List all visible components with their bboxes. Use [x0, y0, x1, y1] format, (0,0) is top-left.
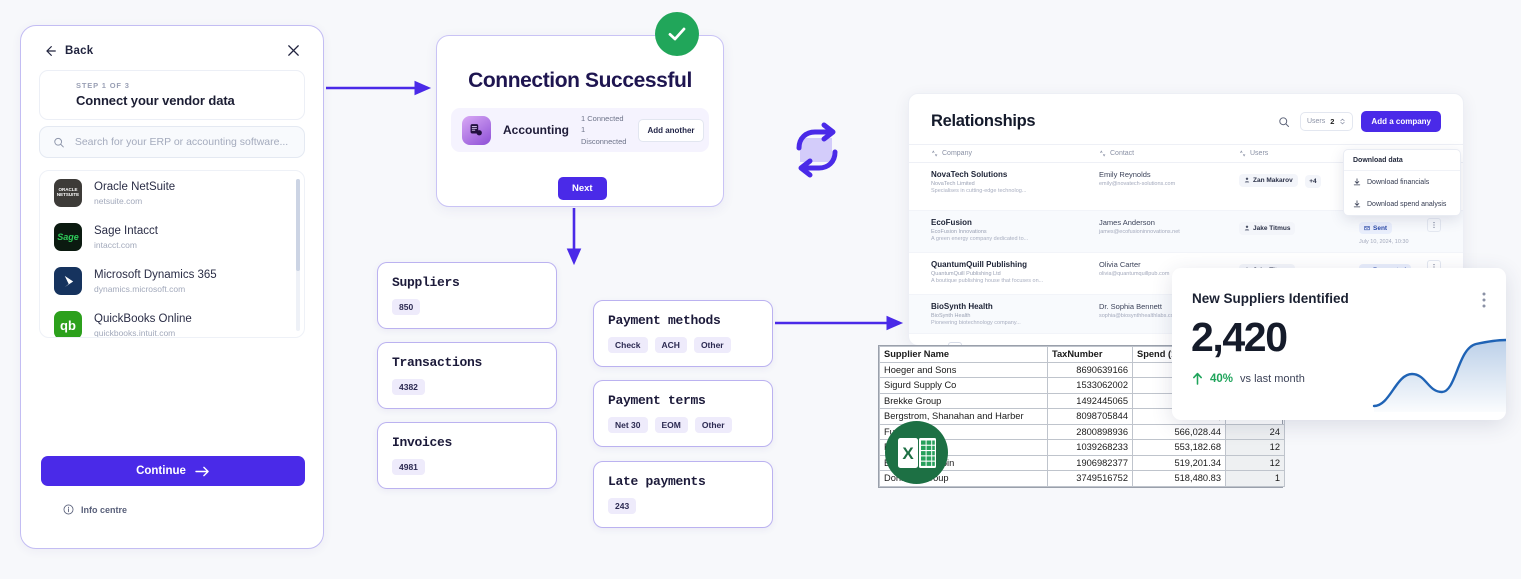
column-header-contact[interactable]: Contact: [1099, 150, 1239, 157]
relationships-header: Relationships Users 2 Add a company: [909, 94, 1463, 132]
cell-spend: 518,480.83: [1133, 471, 1226, 487]
users-cell: Jake Titmus: [1239, 218, 1359, 245]
cell-taxnumber: 1492445065: [1048, 393, 1133, 409]
metric-chip: Check: [608, 337, 648, 353]
metric-title: Invoices: [392, 435, 542, 450]
list-item[interactable]: Sage Sage Intacct intacct.com: [40, 215, 304, 259]
column-label: Contact: [1110, 150, 1134, 157]
menu-item-download-spend-analysis[interactable]: Download spend analysis: [1344, 193, 1460, 215]
metric-card-invoices: Invoices 4981: [377, 422, 557, 489]
cell-taxnumber: 2800898936: [1048, 424, 1133, 440]
connection-success-title: Connection Successful: [437, 69, 723, 93]
erp-name: QuickBooks Online: [94, 312, 192, 326]
kpi-delta: 40% vs last month: [1192, 372, 1305, 385]
back-label: Back: [65, 45, 93, 57]
contact-name: James Anderson: [1099, 218, 1239, 227]
erp-url: dynamics.microsoft.com: [94, 284, 217, 294]
next-button[interactable]: Next: [558, 177, 607, 200]
erp-name: Microsoft Dynamics 365: [94, 268, 217, 282]
arrow-right-icon: [195, 465, 210, 478]
sort-icon: [1099, 150, 1106, 157]
kebab-menu-icon[interactable]: [1482, 292, 1486, 308]
scrollbar[interactable]: [296, 179, 300, 331]
metric-card-payment-terms: Payment terms Net 30 EOM Other: [593, 380, 773, 447]
cell-spend: 553,182.68: [1133, 440, 1226, 456]
erp-search-input[interactable]: [75, 136, 291, 148]
download-menu-header: Download data: [1344, 150, 1460, 171]
erp-search-box[interactable]: [39, 126, 305, 158]
metric-chip: 243: [608, 498, 636, 514]
metric-title: Suppliers: [392, 275, 542, 290]
erp-name: Sage Intacct: [94, 224, 158, 238]
person-icon: [1244, 225, 1250, 231]
company-legal-name: NovaTech Limited: [931, 181, 1099, 187]
company-legal-name: EcoFusion Innovations: [931, 229, 1099, 235]
users-filter[interactable]: Users 2: [1300, 112, 1353, 131]
envelope-icon: [1364, 225, 1370, 231]
erp-url: quickbooks.intuit.com: [94, 328, 192, 338]
company-name: EcoFusion: [931, 218, 1099, 227]
success-check-badge: [655, 12, 699, 56]
metric-chip: 850: [392, 299, 420, 315]
metric-chip: Net 30: [608, 417, 648, 433]
metric-chip: 4981: [392, 459, 425, 475]
column-label: Users: [1250, 150, 1268, 157]
company-description: Pioneering biotechnology company...: [931, 320, 1099, 326]
arrow-up-icon: [1192, 372, 1203, 385]
cell-supplier-name: Bergstrom, Shanahan and Harber: [880, 409, 1048, 425]
vendor-connect-wizard: Back STEP 1 OF 3 Connect your vendor dat…: [20, 25, 324, 549]
integration-label: Accounting: [503, 123, 569, 137]
accounting-icon: [462, 116, 491, 145]
step-header-card: STEP 1 OF 3 Connect your vendor data: [39, 70, 305, 120]
excel-icon: X: [885, 421, 948, 484]
company-legal-name: QuantumQuill Publishing Ltd: [931, 271, 1099, 277]
kpi-delta-comparison: vs last month: [1240, 373, 1305, 385]
status-timestamp: July 10, 2024, 10:30: [1359, 239, 1427, 245]
kpi-delta-percent: 40%: [1210, 373, 1233, 385]
continue-button[interactable]: Continue: [41, 456, 305, 486]
page-title: Relationships: [931, 112, 1278, 131]
contact-email: emily@novatech-solutions.com: [1099, 181, 1239, 187]
user-name: Jake Titmus: [1253, 225, 1290, 232]
company-description: A boutique publishing house that focuses…: [931, 278, 1099, 284]
metric-chip: EOM: [655, 417, 688, 433]
list-item[interactable]: qb QuickBooks Online quickbooks.intuit.c…: [40, 303, 304, 338]
row-actions-button[interactable]: [1427, 218, 1441, 232]
cell-count: 12: [1226, 455, 1285, 471]
company-name: QuantumQuill Publishing: [931, 260, 1099, 269]
user-pill[interactable]: Jake Titmus: [1239, 222, 1295, 235]
metric-chips: 243: [608, 498, 758, 514]
svg-text:X: X: [902, 444, 914, 463]
accounting-integration-row: Accounting 1 Connected 1 Disconnected Ad…: [451, 108, 709, 152]
logo-text: Sage: [57, 232, 79, 242]
cell-taxnumber: 8690639166: [1048, 362, 1133, 378]
status-cell: Sent July 10, 2024, 10:30: [1359, 218, 1427, 245]
contact-name: Emily Reynolds: [1099, 170, 1239, 179]
metric-chips: Check ACH Other: [608, 337, 758, 353]
company-description: Specialises in cutting-edge technolog...: [931, 188, 1099, 194]
cell-supplier-name: Sigurd Supply Co: [880, 378, 1048, 394]
contact-cell: Emily Reynolds emily@novatech-solutions.…: [1099, 170, 1239, 203]
check-circle-icon: [665, 22, 689, 46]
metric-card-late-payments: Late payments 243: [593, 461, 773, 528]
metric-chip: 4382: [392, 379, 425, 395]
metric-title: Late payments: [608, 474, 758, 489]
cell-taxnumber: 1039268233: [1048, 440, 1133, 456]
microsoft-dynamics-logo-icon: [54, 267, 82, 295]
add-company-button[interactable]: Add a company: [1361, 111, 1441, 132]
menu-item-download-financials[interactable]: Download financials: [1344, 171, 1460, 193]
column-header-supplier-name[interactable]: Supplier Name: [880, 347, 1048, 363]
company-legal-name: BioSynth Health: [931, 313, 1099, 319]
info-centre-link[interactable]: Info centre: [63, 504, 127, 515]
sort-icon: [931, 150, 938, 157]
status-badge: Sent: [1359, 222, 1392, 234]
connected-count: 1 Connected: [581, 113, 626, 125]
connection-successful-card: Connection Successful Accounting 1 Conne…: [436, 35, 724, 207]
logo-text: ORACLE NETSUITE: [56, 188, 80, 198]
column-header-taxnumber[interactable]: TaxNumber: [1048, 347, 1133, 363]
chevron-updown-icon: [1339, 118, 1346, 125]
contact-cell: James Anderson james@ecofusioninnovation…: [1099, 218, 1239, 245]
cell-taxnumber: 1533062002: [1048, 378, 1133, 394]
metric-card-payment-methods: Payment methods Check ACH Other: [593, 300, 773, 367]
table-row[interactable]: EcoFusion EcoFusion Innovations A green …: [909, 211, 1463, 253]
new-suppliers-kpi-card: New Suppliers Identified 2,420 40% vs la…: [1172, 268, 1506, 420]
users-filter-value: 2: [1330, 117, 1334, 126]
download-icon: [1353, 178, 1361, 186]
user-name: Zan Makarov: [1253, 177, 1293, 184]
users-cell: Zan Makarov +4: [1239, 170, 1359, 203]
info-centre-label: Info centre: [81, 505, 127, 515]
list-item[interactable]: Microsoft Dynamics 365 dynamics.microsof…: [40, 259, 304, 303]
cell-spend: 566,028.44: [1133, 424, 1226, 440]
metric-chips: 4382: [392, 379, 542, 395]
extra-users-pill[interactable]: +4: [1305, 175, 1320, 188]
cell-taxnumber: 1906982377: [1048, 455, 1133, 471]
status-label: Sent: [1373, 225, 1387, 232]
erp-url: intacct.com: [94, 240, 158, 250]
download-data-menu[interactable]: Download data Download financials Downlo…: [1343, 149, 1461, 216]
company-cell: NovaTech Solutions NovaTech Limited Spec…: [931, 170, 1099, 203]
kpi-value: 2,420: [1191, 314, 1287, 361]
metric-chip: Other: [695, 417, 732, 433]
metric-card-suppliers: Suppliers 850: [377, 262, 557, 329]
metric-title: Payment methods: [608, 313, 758, 328]
disconnected-count: 1 Disconnected: [581, 124, 626, 147]
kebab-menu-icon: [1430, 221, 1438, 229]
metric-chip: ACH: [655, 337, 687, 353]
list-item[interactable]: ORACLE NETSUITE Oracle NetSuite netsuite…: [40, 171, 304, 215]
add-another-button[interactable]: Add another: [638, 119, 703, 142]
column-label: Company: [942, 150, 972, 157]
erp-url: netsuite.com: [94, 196, 175, 206]
sync-arrows-icon: [786, 120, 848, 180]
company-cell: QuantumQuill Publishing QuantumQuill Pub…: [931, 260, 1099, 287]
integration-stats: 1 Connected 1 Disconnected: [581, 113, 626, 148]
sort-icon: [1239, 150, 1246, 157]
sparkline-chart: [1372, 334, 1506, 412]
metric-title: Payment terms: [608, 393, 758, 408]
user-pill[interactable]: Zan Makarov: [1239, 174, 1298, 187]
info-icon: [63, 504, 74, 515]
cell-count: 12: [1226, 440, 1285, 456]
oracle-netsuite-logo-icon: ORACLE NETSUITE: [54, 179, 82, 207]
metric-card-transactions: Transactions 4382: [377, 342, 557, 409]
metric-chip: Other: [694, 337, 731, 353]
search-icon[interactable]: [1278, 116, 1290, 128]
back-button[interactable]: Back: [43, 44, 93, 58]
cell-supplier-name: Brekke Group: [880, 393, 1048, 409]
canvas: Back STEP 1 OF 3 Connect your vendor dat…: [0, 0, 1521, 579]
metric-chips: 850: [392, 299, 542, 315]
cell-taxnumber: 3749516752: [1048, 471, 1133, 487]
step-kicker: STEP 1 OF 3: [76, 81, 290, 90]
company-name: BioSynth Health: [931, 302, 1099, 311]
arrow-left-icon: [43, 44, 57, 58]
cell-taxnumber: 8098705844: [1048, 409, 1133, 425]
menu-item-label: Download spend analysis: [1367, 201, 1446, 208]
metric-chips: Net 30 EOM Other: [608, 417, 758, 433]
company-description: A green energy company dedicated to...: [931, 236, 1099, 242]
wizard-header: Back: [21, 26, 323, 64]
company-name: NovaTech Solutions: [931, 170, 1099, 179]
quickbooks-logo-icon: qb: [54, 311, 82, 338]
search-icon: [53, 136, 65, 149]
kpi-title: New Suppliers Identified: [1192, 291, 1349, 306]
menu-item-label: Download financials: [1367, 179, 1429, 186]
sage-logo-icon: Sage: [54, 223, 82, 251]
company-cell: EcoFusion EcoFusion Innovations A green …: [931, 218, 1099, 245]
download-icon: [1353, 200, 1361, 208]
cell-spend: 519,201.34: [1133, 455, 1226, 471]
contact-email: james@ecofusioninnovations.net: [1099, 229, 1239, 235]
cell-count: 1: [1226, 471, 1285, 487]
column-header-users[interactable]: Users: [1239, 150, 1359, 157]
continue-label: Continue: [136, 465, 186, 477]
erp-results-list[interactable]: ORACLE NETSUITE Oracle NetSuite netsuite…: [39, 170, 305, 338]
erp-name: Oracle NetSuite: [94, 180, 175, 194]
logo-text: qb: [60, 318, 76, 333]
company-cell: BioSynth Health BioSynth Health Pioneeri…: [931, 302, 1099, 326]
close-icon[interactable]: [286, 43, 301, 58]
metric-title: Transactions: [392, 355, 542, 370]
person-icon: [1244, 177, 1250, 183]
column-header-company[interactable]: Company: [931, 150, 1099, 157]
users-filter-label: Users: [1307, 118, 1325, 125]
cell-count: 24: [1226, 424, 1285, 440]
step-title: Connect your vendor data: [76, 93, 290, 108]
cell-supplier-name: Hoeger and Sons: [880, 362, 1048, 378]
metric-chips: 4981: [392, 459, 542, 475]
